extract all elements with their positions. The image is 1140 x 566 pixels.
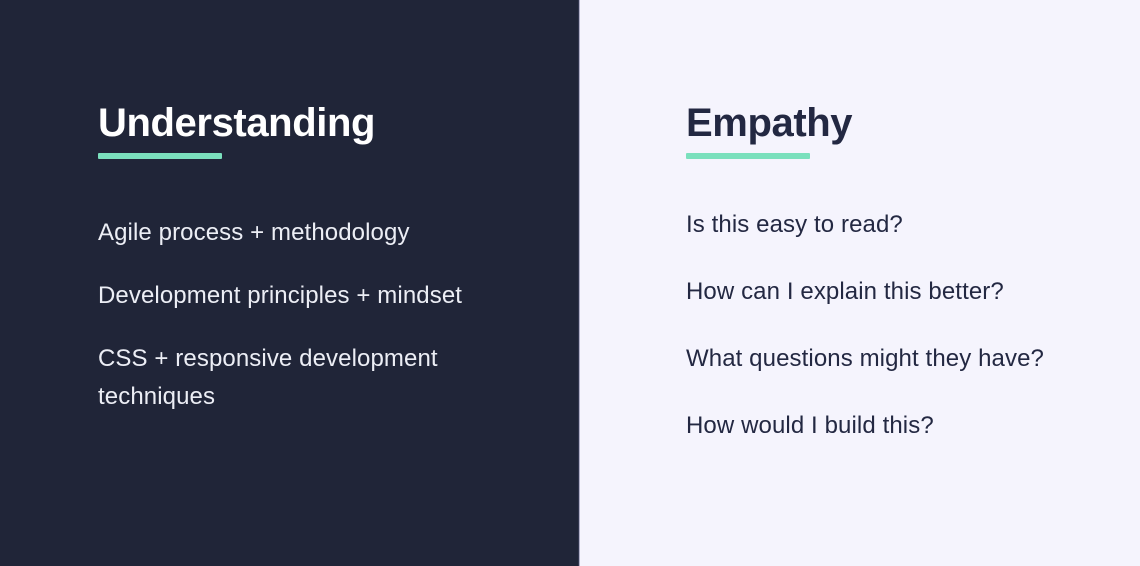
list-item: CSS + responsive development techniques	[98, 340, 528, 416]
list-item: How would I build this?	[686, 407, 1086, 445]
empathy-item-list: Is this easy to read? How can I explain …	[686, 206, 1086, 445]
understanding-heading-rule	[98, 153, 222, 159]
empathy-heading-block: Empathy	[686, 99, 852, 159]
understanding-item-list: Agile process + methodology Development …	[98, 214, 528, 416]
list-item: How can I explain this better?	[686, 273, 1086, 311]
empathy-heading: Empathy	[686, 99, 852, 147]
list-item: Is this easy to read?	[686, 206, 1086, 244]
list-item: Development principles + mindset	[98, 277, 528, 315]
list-item: What questions might they have?	[686, 340, 1086, 378]
empathy-heading-rule	[686, 153, 810, 159]
understanding-heading-block: Understanding	[98, 99, 375, 159]
list-item: Agile process + methodology	[98, 214, 528, 252]
understanding-heading: Understanding	[98, 99, 375, 147]
understanding-panel: Understanding Agile process + methodolog…	[0, 0, 580, 566]
slide-root: Understanding Agile process + methodolog…	[0, 0, 1140, 566]
